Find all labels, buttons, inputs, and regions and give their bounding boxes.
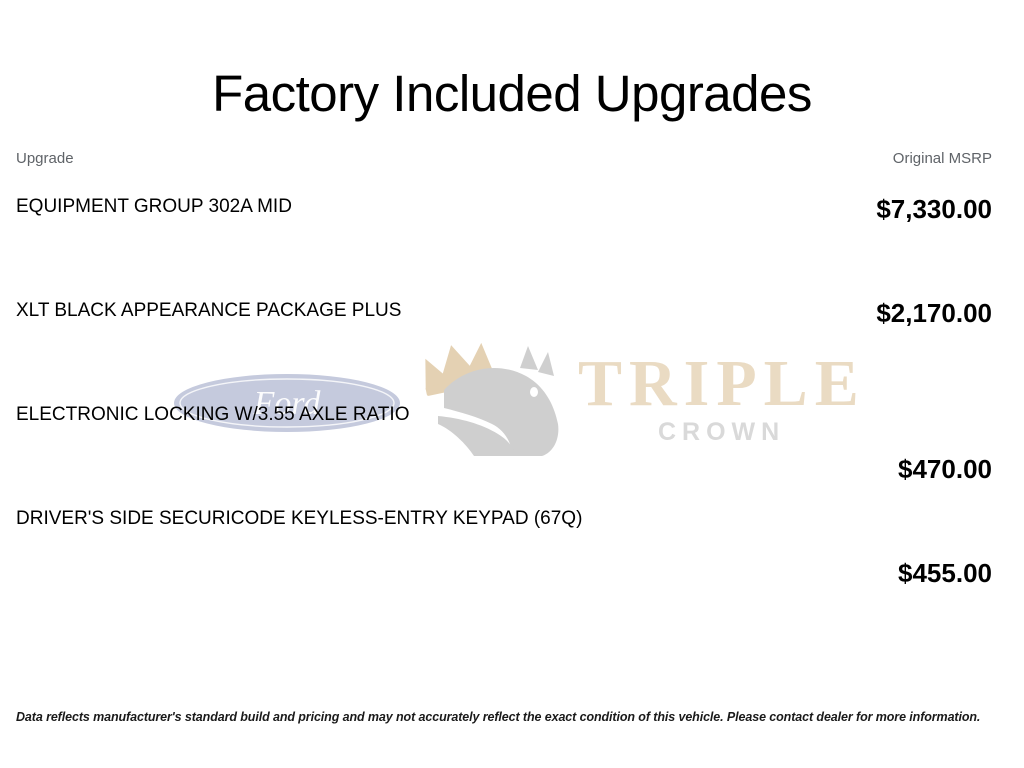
upgrades-page: Ford TRIPLE CROWN Factory Included Upgra… <box>0 0 1024 768</box>
table-row: DRIVER'S SIDE SECURICODE KEYLESS-ENTRY K… <box>16 485 992 589</box>
table-row: ELECTRONIC LOCKING W/3.55 AXLE RATIO $47… <box>16 381 992 485</box>
table-row: XLT BLACK APPEARANCE PACKAGE PLUS $2,170… <box>16 277 992 381</box>
column-header-msrp: Original MSRP <box>893 150 992 167</box>
upgrade-name: DRIVER'S SIDE SECURICODE KEYLESS-ENTRY K… <box>16 506 582 531</box>
upgrade-price: $2,170.00 <box>876 298 992 329</box>
disclaimer-text: Data reflects manufacturer's standard bu… <box>16 710 992 724</box>
upgrade-price: $7,330.00 <box>876 194 992 225</box>
table-header-row: Upgrade Original MSRP <box>16 150 992 173</box>
upgrade-name: XLT BLACK APPEARANCE PACKAGE PLUS <box>16 298 401 323</box>
upgrade-price: $470.00 <box>898 454 992 485</box>
page-title: Factory Included Upgrades <box>0 66 1024 122</box>
upgrades-table: Upgrade Original MSRP EQUIPMENT GROUP 30… <box>16 150 992 589</box>
upgrade-name: ELECTRONIC LOCKING W/3.55 AXLE RATIO <box>16 402 409 427</box>
upgrade-name: EQUIPMENT GROUP 302A MID <box>16 194 292 219</box>
column-header-upgrade: Upgrade <box>16 150 74 167</box>
table-row: EQUIPMENT GROUP 302A MID $7,330.00 <box>16 173 992 277</box>
upgrade-price: $455.00 <box>898 558 992 589</box>
